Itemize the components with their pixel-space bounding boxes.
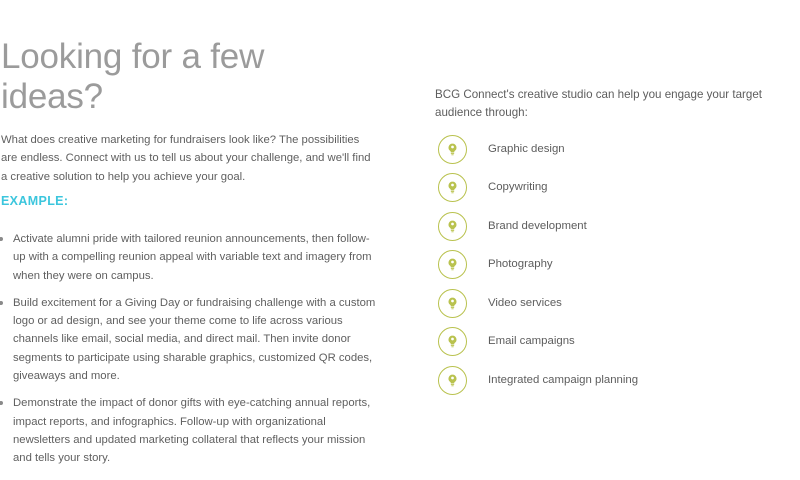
lightbulb-icon: [438, 289, 467, 318]
list-item: Activate alumni pride with tailored reun…: [13, 230, 382, 285]
list-item: Graphic design: [435, 130, 800, 169]
services-intro-text: BCG Connect's creative studio can help y…: [435, 86, 800, 122]
example-heading: EXAMPLE:: [1, 194, 68, 208]
lightbulb-icon: [438, 366, 467, 395]
service-label: Photography: [488, 257, 553, 272]
service-label: Integrated campaign planning: [488, 373, 638, 388]
lightbulb-icon: [438, 173, 467, 202]
lightbulb-icon: [438, 327, 467, 356]
page-canvas: Looking for a few ideas? What does creat…: [0, 0, 800, 480]
page-title: Looking for a few ideas?: [1, 37, 381, 116]
service-label: Email campaigns: [488, 334, 575, 349]
service-label: Copywriting: [488, 180, 548, 195]
lightbulb-icon: [438, 212, 467, 241]
service-label: Graphic design: [488, 142, 565, 157]
list-item: Copywriting: [435, 169, 800, 208]
lightbulb-icon: [438, 135, 467, 164]
service-label: Video services: [488, 296, 562, 311]
list-item: Integrated campaign planning: [435, 361, 800, 400]
left-content-column: Looking for a few ideas? What does creat…: [0, 0, 389, 480]
list-item: Photography: [435, 246, 800, 285]
list-item: Brand development: [435, 207, 800, 246]
intro-paragraph: What does creative marketing for fundrai…: [1, 131, 376, 186]
service-label: Brand development: [488, 219, 587, 234]
list-item: Demonstrate the impact of donor gifts wi…: [13, 394, 382, 467]
list-item: Email campaigns: [435, 323, 800, 362]
list-item: Video services: [435, 284, 800, 323]
right-services-column: BCG Connect's creative studio can help y…: [435, 0, 800, 480]
list-item: Build excitement for a Giving Day or fun…: [13, 294, 382, 385]
example-list: Activate alumni pride with tailored reun…: [0, 230, 382, 477]
lightbulb-icon: [438, 250, 467, 279]
services-list: Graphic design Copywriting: [435, 130, 800, 400]
